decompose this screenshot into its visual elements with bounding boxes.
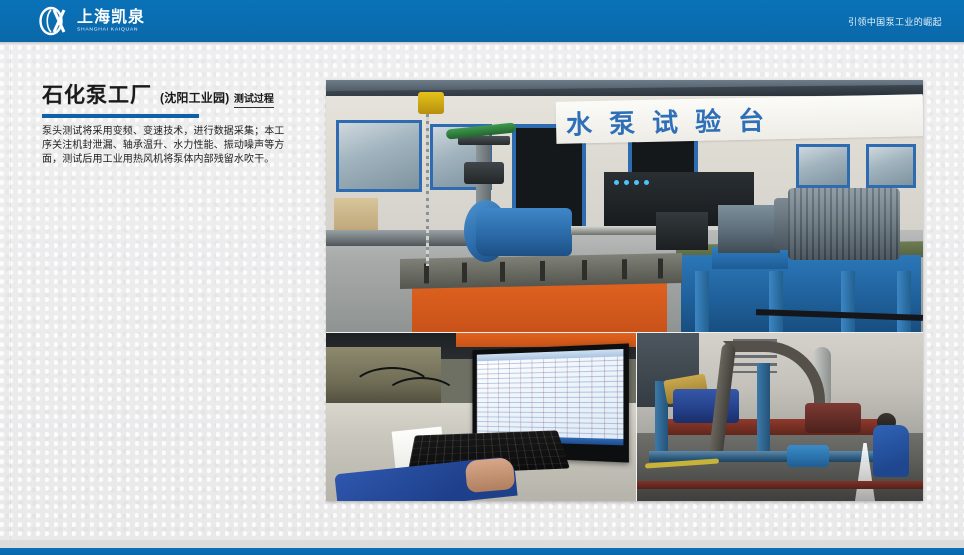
left-edge-rule (10, 45, 11, 540)
header-slogan: 引领中国泵工业的崛起 (848, 0, 942, 42)
photo-plate-slot (658, 258, 663, 278)
photo-bench-leg (769, 271, 783, 332)
photo-operator-hand (465, 457, 516, 493)
kaiquan-logo-mark-icon (38, 6, 70, 36)
photo-bench-leg (897, 271, 911, 332)
title-subtitle: (沈阳工业园) (160, 89, 229, 106)
header-shadow (0, 42, 964, 45)
photo-plate-slot (540, 261, 545, 281)
photo-valve (464, 162, 504, 184)
title-underline (42, 114, 199, 118)
photo-window (866, 144, 916, 188)
photo-gearbox (656, 212, 708, 250)
photo-collage: 水泵试验台 (326, 80, 923, 501)
photo-bench-leg (695, 271, 709, 332)
photo-process-pump (805, 403, 861, 433)
photo-panel-led (634, 180, 639, 185)
page-footer (0, 548, 964, 555)
photo-pipe-coupler (787, 445, 829, 467)
text-column: 石化泵工厂 (沈阳工业园) 测试过程 泵头测试将采用变频、变速技术，进行数据采集… (42, 78, 304, 167)
photo-panel-led (644, 180, 649, 185)
photo-plate-slot (424, 263, 429, 283)
photo-panel-led (614, 180, 619, 185)
photo-bench-leg (841, 271, 855, 332)
photo-worker-body (873, 425, 909, 477)
collage-divider-horizontal (326, 332, 923, 333)
page-title: 石化泵工厂 (沈阳工业园) (42, 79, 229, 118)
photo-plate-slot (462, 263, 467, 283)
photo-floor-rail (637, 481, 923, 489)
section-heading: 测试过程 (234, 94, 274, 108)
brand-logo-text: 上海凯泉 SHANGHAI KAIQUAN (77, 10, 145, 33)
photo-plate-slot (500, 262, 505, 282)
photo-pump-body (476, 208, 572, 256)
photo-test-rig-worker (637, 333, 923, 501)
title-main: 石化泵工厂 (42, 79, 152, 109)
photo-banner: 水泵试验台 (556, 94, 923, 144)
photo-crane-hook (418, 92, 444, 114)
photo-coupling (718, 205, 780, 253)
footer-gap (0, 540, 964, 548)
brand-name-cn: 上海凯泉 (77, 10, 145, 26)
photo-pump-test-bed: 水泵试验台 (326, 80, 923, 332)
photo-plate-slot (582, 260, 587, 280)
photo-desk-cable (384, 377, 458, 417)
photo-slotted-plate (400, 253, 682, 289)
collage-divider-vertical (636, 333, 637, 501)
photo-plate-slot (622, 259, 627, 279)
photo-hoist-chain (426, 96, 429, 266)
photo-panel-led (624, 180, 629, 185)
photo-screen-toolbar (477, 349, 624, 361)
title-row: 石化泵工厂 (沈阳工业园) (42, 79, 229, 109)
page-header: 上海凯泉 SHANGHAI KAIQUAN 引领中国泵工业的崛起 (0, 0, 964, 42)
photo-operator-workstation (326, 333, 636, 501)
photo-window (336, 120, 422, 192)
brand-logo[interactable]: 上海凯泉 SHANGHAI KAIQUAN (38, 6, 145, 36)
slide-root: 上海凯泉 SHANGHAI KAIQUAN 引领中国泵工业的崛起 石化泵工厂 (… (0, 0, 964, 555)
photo-banner-text: 水泵试验台 (566, 100, 782, 141)
photo-electric-motor (788, 188, 900, 260)
section-paragraph: 泵头测试将采用变频、变速技术，进行数据采集；本工序关注机封泄漏、轴承温升、水力性… (42, 125, 294, 167)
brand-name-en: SHANGHAI KAIQUAN (77, 28, 145, 33)
photo-window (796, 144, 850, 188)
